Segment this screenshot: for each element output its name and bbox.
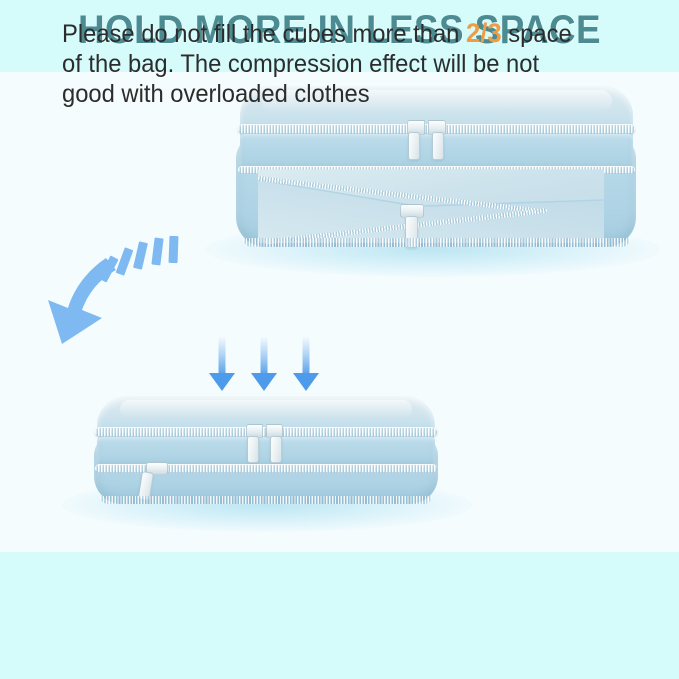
curve-arrow-icon [38,236,190,348]
arrow-stem [261,337,268,377]
compressed-cube-base-seam [100,496,432,504]
compressed-cube-lid-sheen [120,400,412,418]
press-down-arrow-1 [208,337,236,392]
caption-fraction: 2/3 [466,18,502,48]
press-down-arrow-2 [250,337,278,392]
curve-arrow-dash-5 [169,236,179,263]
arrow-stem [219,337,226,377]
infographic-page: HOLD MORE IN LESS SPACE [0,0,679,679]
arrow-head [209,373,235,391]
press-down-arrow-3 [292,337,320,392]
expanded-cube-base-seam [243,238,630,247]
expanded-cube-compression-gusset [258,168,604,246]
expanded-lid-pull-left[interactable] [408,132,420,160]
caption-part-1: Please do not fill the cubes more than [62,20,466,48]
expanded-lid-pull-right[interactable] [432,132,444,160]
compressed-lid-pull-right[interactable] [270,436,282,463]
compress-motion-arrow [38,236,190,348]
caption-text: Please do not fill the cubes more than 2… [62,18,594,109]
arrow-stem [303,337,310,377]
arrow-head [293,373,319,391]
compressed-lid-pull-left[interactable] [247,436,259,463]
footer-band [0,552,679,679]
arrow-head [251,373,277,391]
